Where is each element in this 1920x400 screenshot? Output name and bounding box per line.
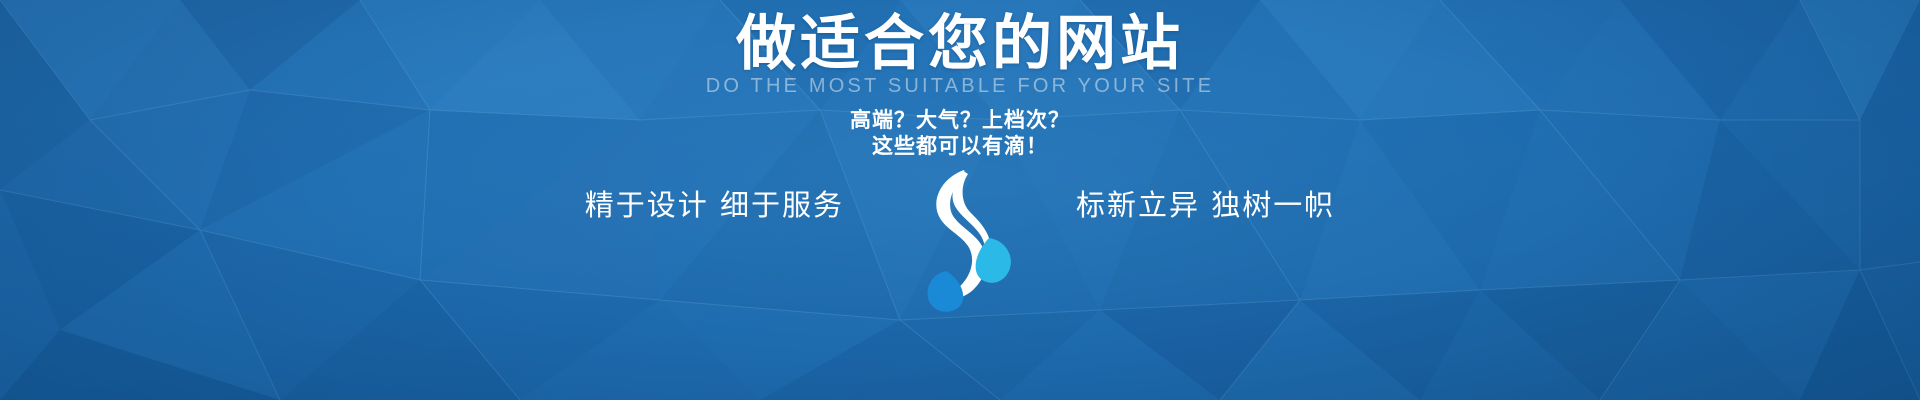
tagline-right: 标新立异 独树一帜	[1076, 185, 1335, 225]
page-title: 做适合您的网站	[0, 8, 1920, 80]
chinese-subtitle-line-2: 这些都可以有滴！	[0, 133, 1920, 159]
swan-leaf-logo-icon	[902, 168, 1018, 313]
brand-logo	[902, 168, 1018, 313]
banner-content: 做适合您的网站 DO THE MOST SUITABLE FOR YOUR SI…	[0, 0, 1920, 400]
chinese-subtitle-line-1: 高端？大气？上档次？	[0, 107, 1920, 133]
hero-banner: 做适合您的网站 DO THE MOST SUITABLE FOR YOUR SI…	[0, 0, 1920, 400]
tagline-left: 精于设计 细于服务	[585, 185, 844, 225]
english-subtitle: DO THE MOST SUITABLE FOR YOUR SITE	[0, 74, 1920, 98]
